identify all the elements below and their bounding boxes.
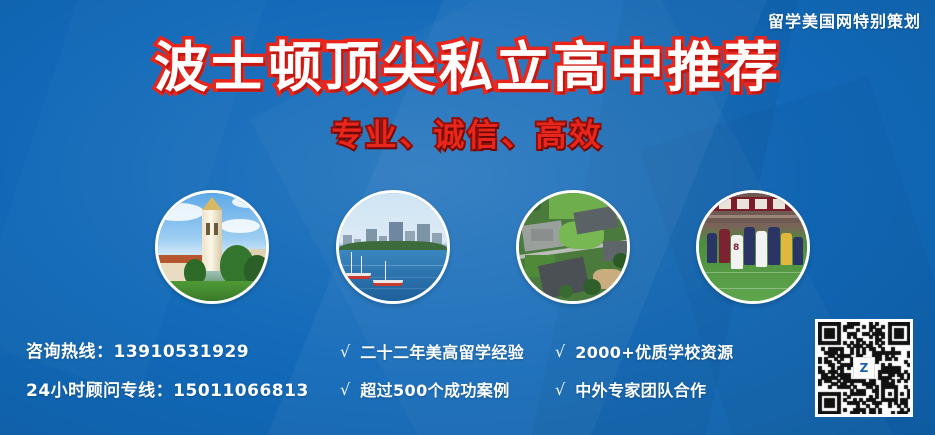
player-figure (707, 233, 717, 263)
promo-banner: 留学美国网特别策划 波士顿顶尖私立高中推荐 专业、诚信、高效 (0, 0, 935, 435)
feature-row: √ 超过500个成功案例 √ 中外专家团队合作 (340, 377, 734, 401)
jersey-number: 8 (733, 243, 739, 253)
brand-tagline: 留学美国网特别策划 (768, 8, 921, 32)
player-figure (793, 237, 803, 265)
player-figure (719, 229, 730, 263)
campus-tower-illustration (158, 193, 266, 301)
feature-label: 2000+优质学校资源 (575, 339, 733, 363)
tower-window (206, 223, 210, 235)
stand-window (737, 199, 749, 209)
football-illustration: 8 (699, 193, 807, 301)
sailboat-mast (361, 256, 362, 274)
sailboat-mast (385, 261, 386, 281)
feature-label: 超过500个成功案例 (360, 377, 509, 401)
photo-city-skyline-waterfront (336, 190, 450, 304)
tree-shape (605, 289, 620, 303)
yard-line (699, 288, 807, 289)
feature-list: √ 二十二年美高留学经验 √ 2000+优质学校资源 √ 超过500个成功案例 … (340, 339, 734, 401)
feature-item-school-resources: √ 2000+优质学校资源 (555, 339, 734, 363)
player-figure (768, 227, 780, 265)
photo-football-game: 8 (696, 190, 810, 304)
aerial-campus-illustration (519, 193, 627, 301)
hotline-primary: 咨询热线：13910531929 (26, 337, 309, 362)
check-icon: √ (340, 342, 350, 361)
stand-window (755, 199, 767, 209)
lawn (158, 281, 266, 301)
stand-window (773, 199, 785, 209)
wave-line (339, 265, 447, 266)
cloud-icon (220, 219, 260, 233)
player-figure (756, 231, 767, 267)
check-icon: √ (555, 342, 565, 361)
tree-shape (613, 253, 629, 268)
feature-item-experience: √ 二十二年美高留学经验 (340, 339, 555, 363)
boat-hull (373, 280, 403, 286)
stand-railing (699, 215, 807, 218)
check-icon: √ (555, 380, 565, 399)
tower-spire (202, 197, 222, 210)
photo-campus-tower (155, 190, 269, 304)
boat-hull (345, 273, 371, 279)
feature-item-expert-team: √ 中外专家团队合作 (555, 377, 706, 401)
player-figure (781, 233, 792, 265)
tower-window (214, 223, 218, 235)
qr-code[interactable]: Z (815, 319, 913, 417)
qr-center-logo: Z (853, 357, 875, 379)
wave-line (339, 288, 447, 289)
feature-label: 二十二年美高留学经验 (360, 339, 524, 363)
check-icon: √ (340, 380, 350, 399)
cloud-icon (155, 203, 204, 221)
shoreline-trees (339, 241, 447, 250)
small-roof (531, 229, 553, 241)
feature-item-success-cases: √ 超过500个成功案例 (340, 377, 555, 401)
photo-strip: 8 (0, 190, 935, 308)
tree-shape (559, 285, 573, 298)
hotline-24h: 24小时顾问专线：15011066813 (26, 376, 309, 401)
tree-shape (529, 199, 541, 211)
page-subtitle: 专业、诚信、高效 (0, 110, 935, 155)
skyline-illustration (339, 193, 447, 301)
contact-block: 咨询热线：13910531929 24小时顾问专线：15011066813 (26, 337, 309, 401)
yard-line (699, 272, 807, 273)
feature-row: √ 二十二年美高留学经验 √ 2000+优质学校资源 (340, 339, 734, 363)
stand-window (719, 199, 731, 209)
qr-logo-text: Z (860, 362, 869, 374)
page-title: 波士顿顶尖私立高中推荐 (0, 40, 935, 97)
feature-label: 中外专家团队合作 (575, 377, 706, 401)
photo-aerial-campus (516, 190, 630, 304)
sailboat-mast (351, 252, 352, 274)
cloud-icon (232, 196, 266, 208)
player-figure (744, 227, 755, 265)
bell-tower (202, 209, 222, 271)
tree-shape (583, 279, 601, 295)
